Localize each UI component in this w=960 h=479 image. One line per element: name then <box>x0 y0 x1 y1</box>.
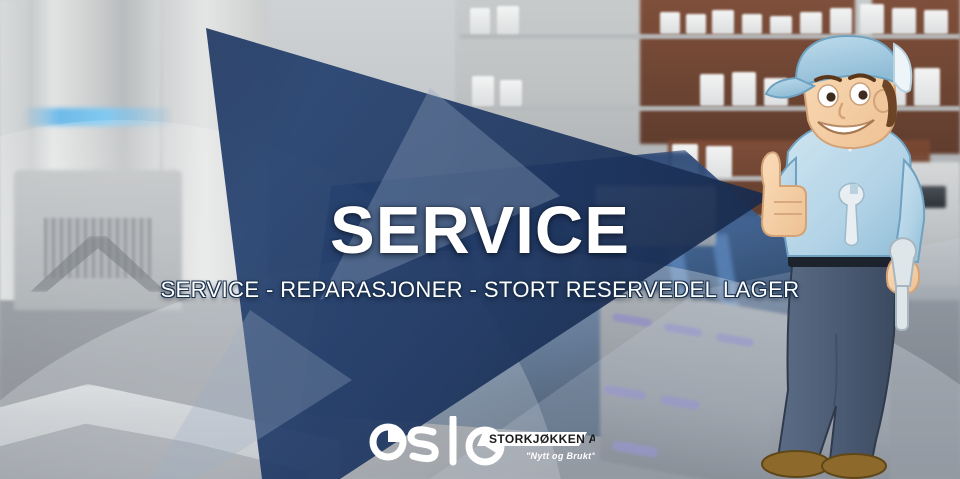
crockery <box>497 6 519 34</box>
crockery <box>660 12 680 34</box>
crockery <box>712 10 734 34</box>
crockery <box>800 12 822 34</box>
oslo-storkjokken-logo[interactable]: STORKJØKKEN AS "Nytt og Brukt" <box>365 416 595 474</box>
crockery <box>472 76 494 106</box>
crockery <box>686 14 706 34</box>
shoe-right <box>822 454 886 478</box>
crockery <box>470 8 490 34</box>
crockery <box>742 14 762 34</box>
banner-subtitle: SERVICE - REPARASJONER - STORT RESERVEDE… <box>0 277 960 303</box>
crockery <box>770 16 792 34</box>
crockery <box>924 10 948 34</box>
crockery <box>830 8 852 34</box>
cap <box>796 36 900 84</box>
logo-tagline: "Nytt og Brukt" <box>526 451 595 461</box>
crockery <box>892 8 916 34</box>
crockery <box>860 4 884 34</box>
crockery <box>500 80 522 106</box>
shoe-left <box>762 451 830 477</box>
banner-title: SERVICE <box>0 196 960 266</box>
logo-company: STORKJØKKEN AS <box>489 432 595 446</box>
service-banner: SERVICE SERVICE - REPARASJONER - STORT R… <box>0 0 960 479</box>
crockery <box>700 74 724 106</box>
hood-light-strip <box>22 108 170 126</box>
cap-back <box>894 44 911 92</box>
